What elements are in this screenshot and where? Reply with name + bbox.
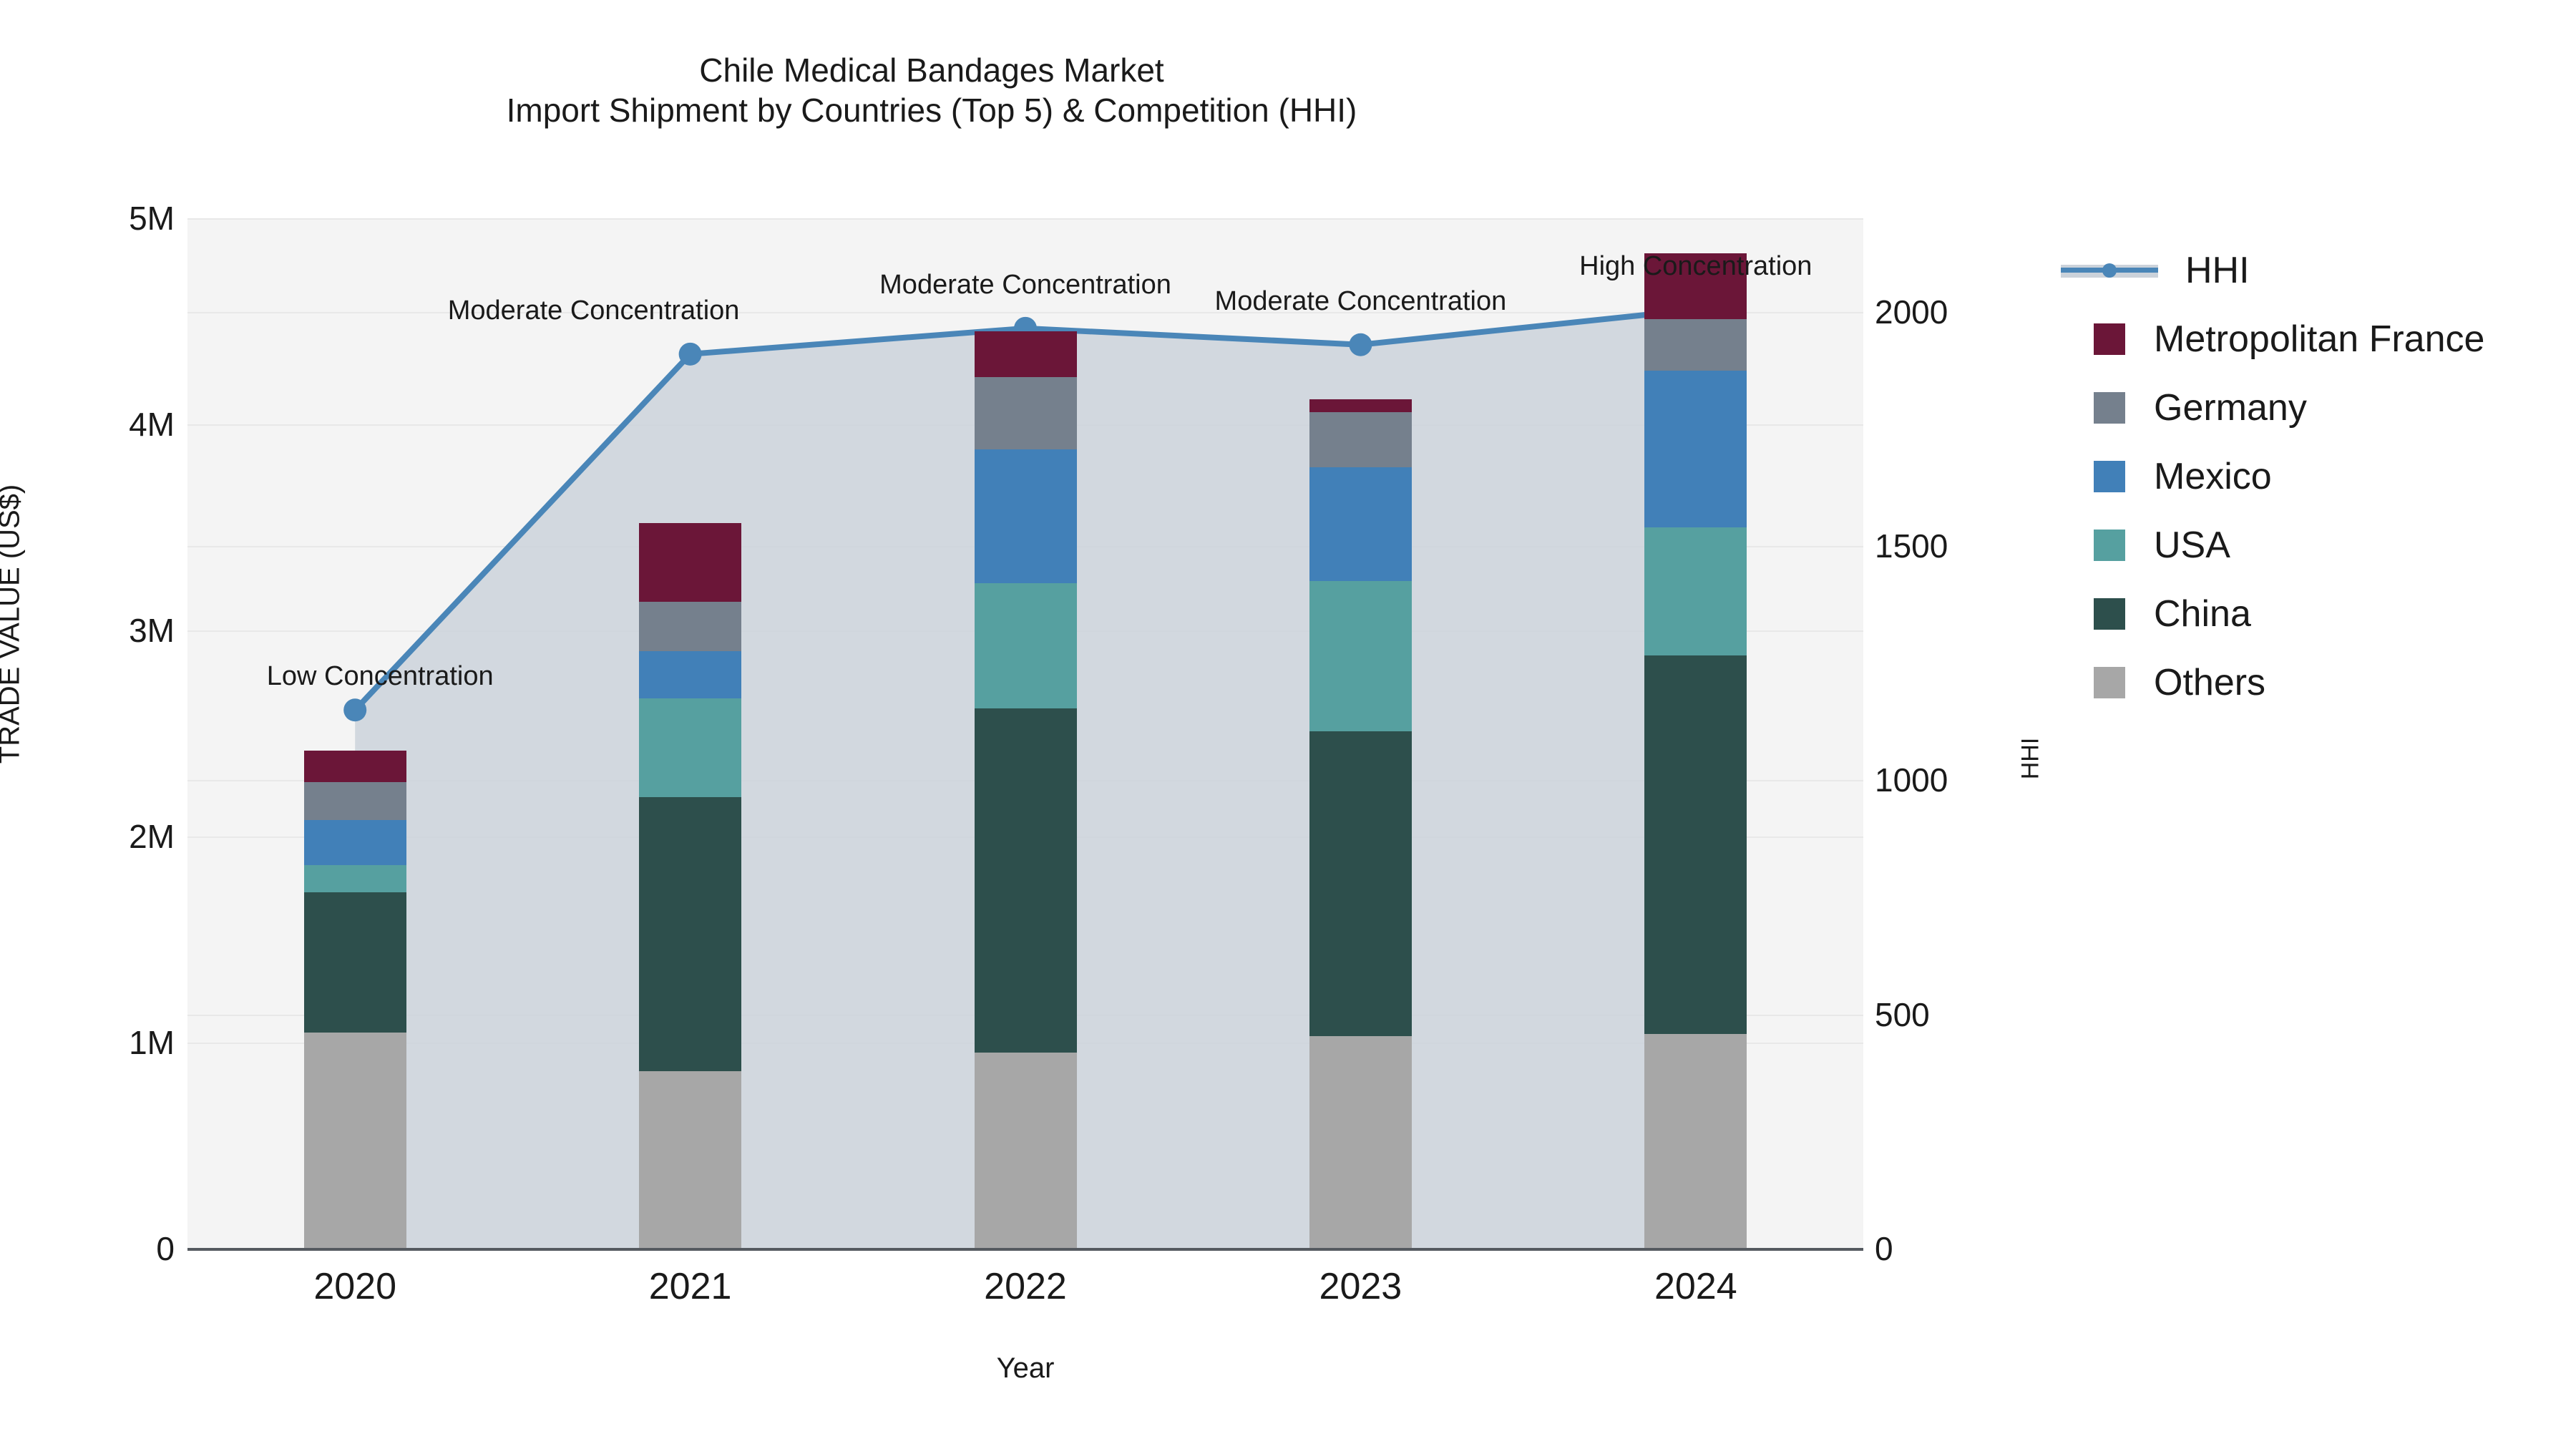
x-axis-tick: 2021 (649, 1265, 732, 1308)
bar-segment-mexico[interactable] (975, 449, 1077, 583)
legend-line-marker (2061, 255, 2158, 286)
x-axis-tick: 2020 (313, 1265, 396, 1308)
title-line-2: Import Shipment by Countries (Top 5) & C… (0, 90, 1863, 130)
bar-segment-others[interactable] (1644, 1034, 1747, 1249)
title-line-1: Chile Medical Bandages Market (0, 50, 1863, 90)
bar-segment-usa[interactable] (1644, 527, 1747, 655)
y-axis-right-label: HHI (2017, 738, 2045, 780)
bar-segment-china[interactable] (639, 797, 741, 1071)
bar-segment-china[interactable] (304, 892, 406, 1033)
bar-segment-metropolitan-france[interactable] (1309, 399, 1412, 411)
legend-item-usa[interactable]: USA (2061, 511, 2562, 580)
bar-segment-china[interactable] (1644, 655, 1747, 1035)
chart-title: Chile Medical Bandages Market Import Shi… (0, 50, 1863, 130)
y-axis-right-tick: 1500 (1875, 527, 1948, 565)
bar-segment-mexico[interactable] (1309, 467, 1412, 580)
legend-line-dot (2102, 263, 2117, 278)
bar-segment-others[interactable] (304, 1033, 406, 1249)
bar-segment-china[interactable] (975, 708, 1077, 1053)
hhi-annotation: High Concentration (1579, 251, 1812, 282)
legend-item-label: Germany (2154, 386, 2307, 429)
bar-segment-germany[interactable] (1644, 319, 1747, 371)
bar-segment-mexico[interactable] (1644, 371, 1747, 527)
legend-item-label: Mexico (2154, 455, 2272, 498)
hhi-data-point[interactable] (343, 698, 366, 721)
x-axis-label: Year (997, 1352, 1055, 1385)
x-axis-tick: 2024 (1654, 1265, 1737, 1308)
hhi-annotation: Moderate Concentration (879, 270, 1171, 301)
bar-segment-china[interactable] (1309, 731, 1412, 1036)
legend-item-mexico[interactable]: Mexico (2061, 442, 2562, 511)
bar-segment-metropolitan-france[interactable] (975, 331, 1077, 376)
legend-color-swatch (2094, 598, 2125, 630)
y-axis-left-tick: 3M (0, 611, 175, 650)
bar-segment-others[interactable] (975, 1053, 1077, 1249)
bar-segment-germany[interactable] (639, 602, 741, 651)
legend-item-hhi[interactable]: HHI (2061, 236, 2562, 305)
legend-item-metropolitan-france[interactable]: Metropolitan France (2061, 305, 2562, 374)
legend-item-label: USA (2154, 524, 2230, 567)
chart-root: Chile Medical Bandages Market Import Shi… (0, 0, 2576, 1449)
legend-color-swatch (2094, 392, 2125, 424)
y-axis-left-tick: 1M (0, 1023, 175, 1062)
y-axis-right-tick: 2000 (1875, 293, 1948, 331)
bar-segment-usa[interactable] (639, 698, 741, 797)
bar-segment-metropolitan-france[interactable] (304, 751, 406, 781)
bar-segment-mexico[interactable] (639, 651, 741, 698)
bar-segment-others[interactable] (639, 1071, 741, 1249)
hhi-annotation: Moderate Concentration (448, 296, 740, 326)
x-axis-line (187, 1248, 1863, 1251)
legend-item-china[interactable]: China (2061, 580, 2562, 648)
hhi-annotation: Moderate Concentration (1215, 286, 1507, 317)
legend-item-others[interactable]: Others (2061, 648, 2562, 717)
legend-item-label: China (2154, 592, 2251, 635)
x-axis-tick: 2023 (1319, 1265, 1402, 1308)
y-axis-right-tick: 500 (1875, 995, 1930, 1034)
bar-segment-others[interactable] (1309, 1036, 1412, 1249)
legend-item-label: Others (2154, 661, 2265, 704)
y-axis-right-tick: 0 (1875, 1229, 1893, 1268)
legend-color-swatch (2094, 323, 2125, 355)
hhi-annotation: Low Concentration (267, 661, 494, 692)
y-axis-right-tick: 1000 (1875, 761, 1948, 799)
bar-segment-mexico[interactable] (304, 820, 406, 865)
hhi-data-point[interactable] (679, 343, 702, 366)
y-axis-left-tick: 2M (0, 817, 175, 856)
x-axis-tick: 2022 (984, 1265, 1067, 1308)
legend-color-swatch (2094, 530, 2125, 561)
legend: HHIMetropolitan FranceGermanyMexicoUSACh… (2061, 236, 2562, 717)
y-axis-left-tick: 5M (0, 199, 175, 238)
legend-color-swatch (2094, 667, 2125, 698)
legend-color-swatch (2094, 461, 2125, 492)
legend-item-germany[interactable]: Germany (2061, 374, 2562, 442)
y-axis-left-label: TRADE VALUE (US$) (0, 484, 26, 763)
y-axis-left-tick: 0 (0, 1229, 175, 1268)
bar-segment-germany[interactable] (975, 377, 1077, 449)
bar-segment-usa[interactable] (975, 583, 1077, 709)
bar-segment-usa[interactable] (304, 865, 406, 892)
bar-segment-germany[interactable] (304, 782, 406, 820)
bar-segment-metropolitan-france[interactable] (639, 523, 741, 601)
bar-segment-germany[interactable] (1309, 412, 1412, 468)
legend-item-label: Metropolitan France (2154, 318, 2484, 361)
y-axis-left-tick: 4M (0, 405, 175, 444)
hhi-data-point[interactable] (1349, 333, 1372, 356)
legend-item-label: HHI (2185, 249, 2250, 292)
bar-segment-usa[interactable] (1309, 581, 1412, 731)
